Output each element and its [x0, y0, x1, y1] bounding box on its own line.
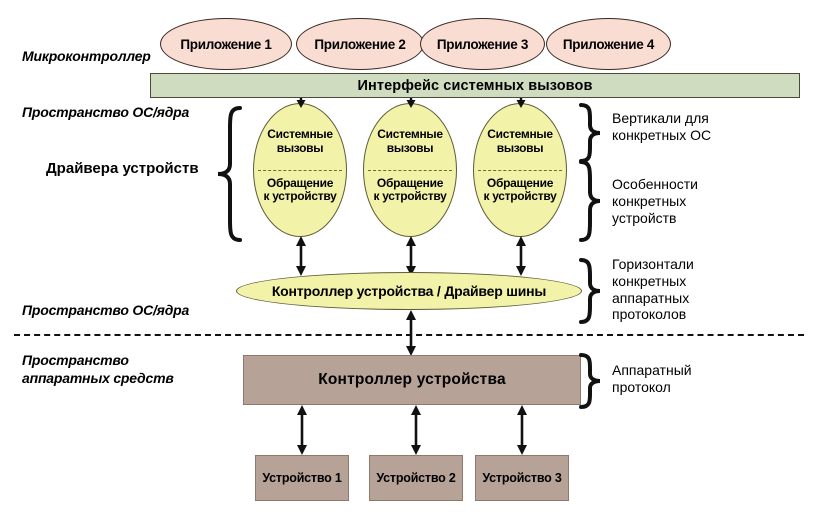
device-label-1: Устройство 1: [262, 471, 341, 485]
brace-hw-protocol: [578, 353, 604, 409]
syscall-interface-label: Интерфейс системных вызовов: [358, 78, 593, 94]
device-controller-label: Контроллер устройства: [318, 371, 506, 389]
note-device-specifics: Особенности конкретных устройств: [612, 176, 698, 226]
device-controller-box[interactable]: Контроллер устройства: [243, 355, 581, 405]
bus-driver-node[interactable]: Контроллер устройства / Драйвер шины: [236, 272, 582, 310]
driver-bottom-label-3: Обращение к устройству: [474, 177, 566, 205]
brace-device-drivers: [214, 106, 244, 242]
application-label-1: Приложение 1: [180, 37, 271, 52]
label-microcontroller: Микроконтроллер: [22, 48, 151, 66]
application-node-4[interactable]: Приложение 4: [546, 18, 671, 70]
device-box-1[interactable]: Устройство 1: [255, 455, 349, 501]
arrow-bus-to-controller: [403, 310, 419, 356]
arrow-controller-to-device-1: [294, 405, 310, 455]
label-os-kernel-space-top: Пространство ОС/ядра: [22, 104, 189, 122]
application-label-4: Приложение 4: [563, 37, 654, 52]
driver-top-label-3: Системные вызовы: [474, 128, 566, 156]
application-node-3[interactable]: Приложение 3: [420, 18, 545, 70]
driver-node-1[interactable]: Системные вызовы Обращение к устройству: [253, 103, 347, 237]
driver-divider-1: [258, 170, 343, 171]
note-hw-horizontals: Горизонтали конкретных аппаратных проток…: [612, 256, 694, 323]
driver-node-2[interactable]: Системные вызовы Обращение к устройству: [363, 103, 457, 237]
application-label-2: Приложение 2: [314, 37, 405, 52]
arrow-driver-1-to-bus: [293, 236, 309, 276]
arrow-syscall-to-driver-2: [404, 98, 418, 108]
arrow-syscall-to-driver-1: [294, 98, 308, 108]
driver-bottom-label-1: Обращение к устройству: [254, 177, 346, 205]
diagram-canvas: Микроконтроллер Пространство ОС/ядра Дра…: [0, 0, 820, 526]
note-os-verticals: Вертикали для конкретных ОС: [612, 110, 711, 144]
driver-bottom-label-2: Обращение к устройству: [364, 177, 456, 205]
bus-driver-label: Контроллер устройства / Драйвер шины: [272, 283, 546, 299]
driver-divider-2: [368, 170, 453, 171]
device-label-2: Устройство 2: [376, 471, 455, 485]
application-node-1[interactable]: Приложение 1: [160, 18, 292, 70]
application-node-2[interactable]: Приложение 2: [296, 18, 424, 70]
brace-device-specifics: [578, 160, 604, 242]
driver-divider-3: [478, 170, 563, 171]
arrow-driver-3-to-bus: [513, 236, 529, 276]
note-hw-protocol: Аппаратный протокол: [612, 362, 692, 396]
application-label-3: Приложение 3: [437, 37, 528, 52]
label-device-drivers: Драйвера устройств: [46, 160, 199, 178]
driver-top-label-2: Системные вызовы: [364, 128, 456, 156]
arrow-syscall-to-driver-3: [514, 98, 528, 108]
device-box-3[interactable]: Устройство 3: [475, 455, 569, 501]
device-box-2[interactable]: Устройство 2: [369, 455, 463, 501]
brace-os-verticals: [578, 103, 604, 163]
driver-top-label-1: Системные вызовы: [254, 128, 346, 156]
arrow-controller-to-device-3: [514, 405, 530, 455]
label-os-kernel-space-bottom: Пространство ОС/ядра: [22, 302, 189, 320]
device-label-3: Устройство 3: [482, 471, 561, 485]
arrow-controller-to-device-2: [408, 405, 424, 455]
arrow-driver-2-to-bus: [403, 236, 419, 276]
kernel-hardware-separator: [14, 334, 804, 336]
syscall-interface-bar[interactable]: Интерфейс системных вызовов: [150, 73, 800, 98]
label-hardware-space: Пространство аппаратных средств: [22, 352, 174, 387]
brace-hw-horizontals: [578, 258, 604, 324]
driver-node-3[interactable]: Системные вызовы Обращение к устройству: [473, 103, 567, 237]
